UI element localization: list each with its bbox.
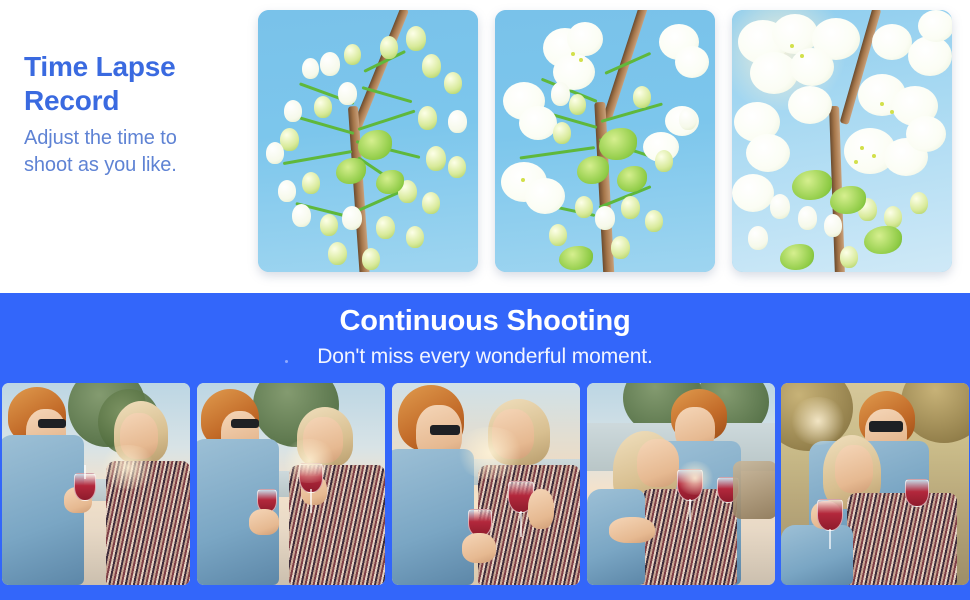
burst-frame-3	[392, 383, 580, 585]
burst-frame-4	[587, 383, 775, 585]
burst-frame-5	[781, 383, 969, 585]
time-lapse-subhead: Adjust the time to shoot as you like.	[24, 125, 249, 179]
time-lapse-section: Time Lapse Record Adjust the time to sho…	[0, 0, 970, 293]
product-feature-banner: Time Lapse Record Adjust the time to sho…	[0, 0, 970, 600]
time-lapse-photo-row	[258, 10, 958, 272]
continuous-shooting-title: Continuous Shooting	[0, 305, 970, 338]
timelapse-frame-3	[732, 10, 952, 272]
continuous-shooting-section: Continuous Shooting Don't miss every won…	[0, 293, 970, 600]
time-lapse-copy: Time Lapse Record Adjust the time to sho…	[24, 50, 249, 179]
timelapse-frame-2	[495, 10, 715, 272]
timelapse-frame-1	[258, 10, 478, 272]
continuous-shooting-subtitle: Don't miss every wonderful moment.	[0, 345, 970, 369]
burst-frame-2	[197, 383, 385, 585]
burst-photo-strip	[0, 383, 970, 585]
time-lapse-headline: Time Lapse Record	[24, 50, 249, 119]
burst-frame-1	[2, 383, 190, 585]
